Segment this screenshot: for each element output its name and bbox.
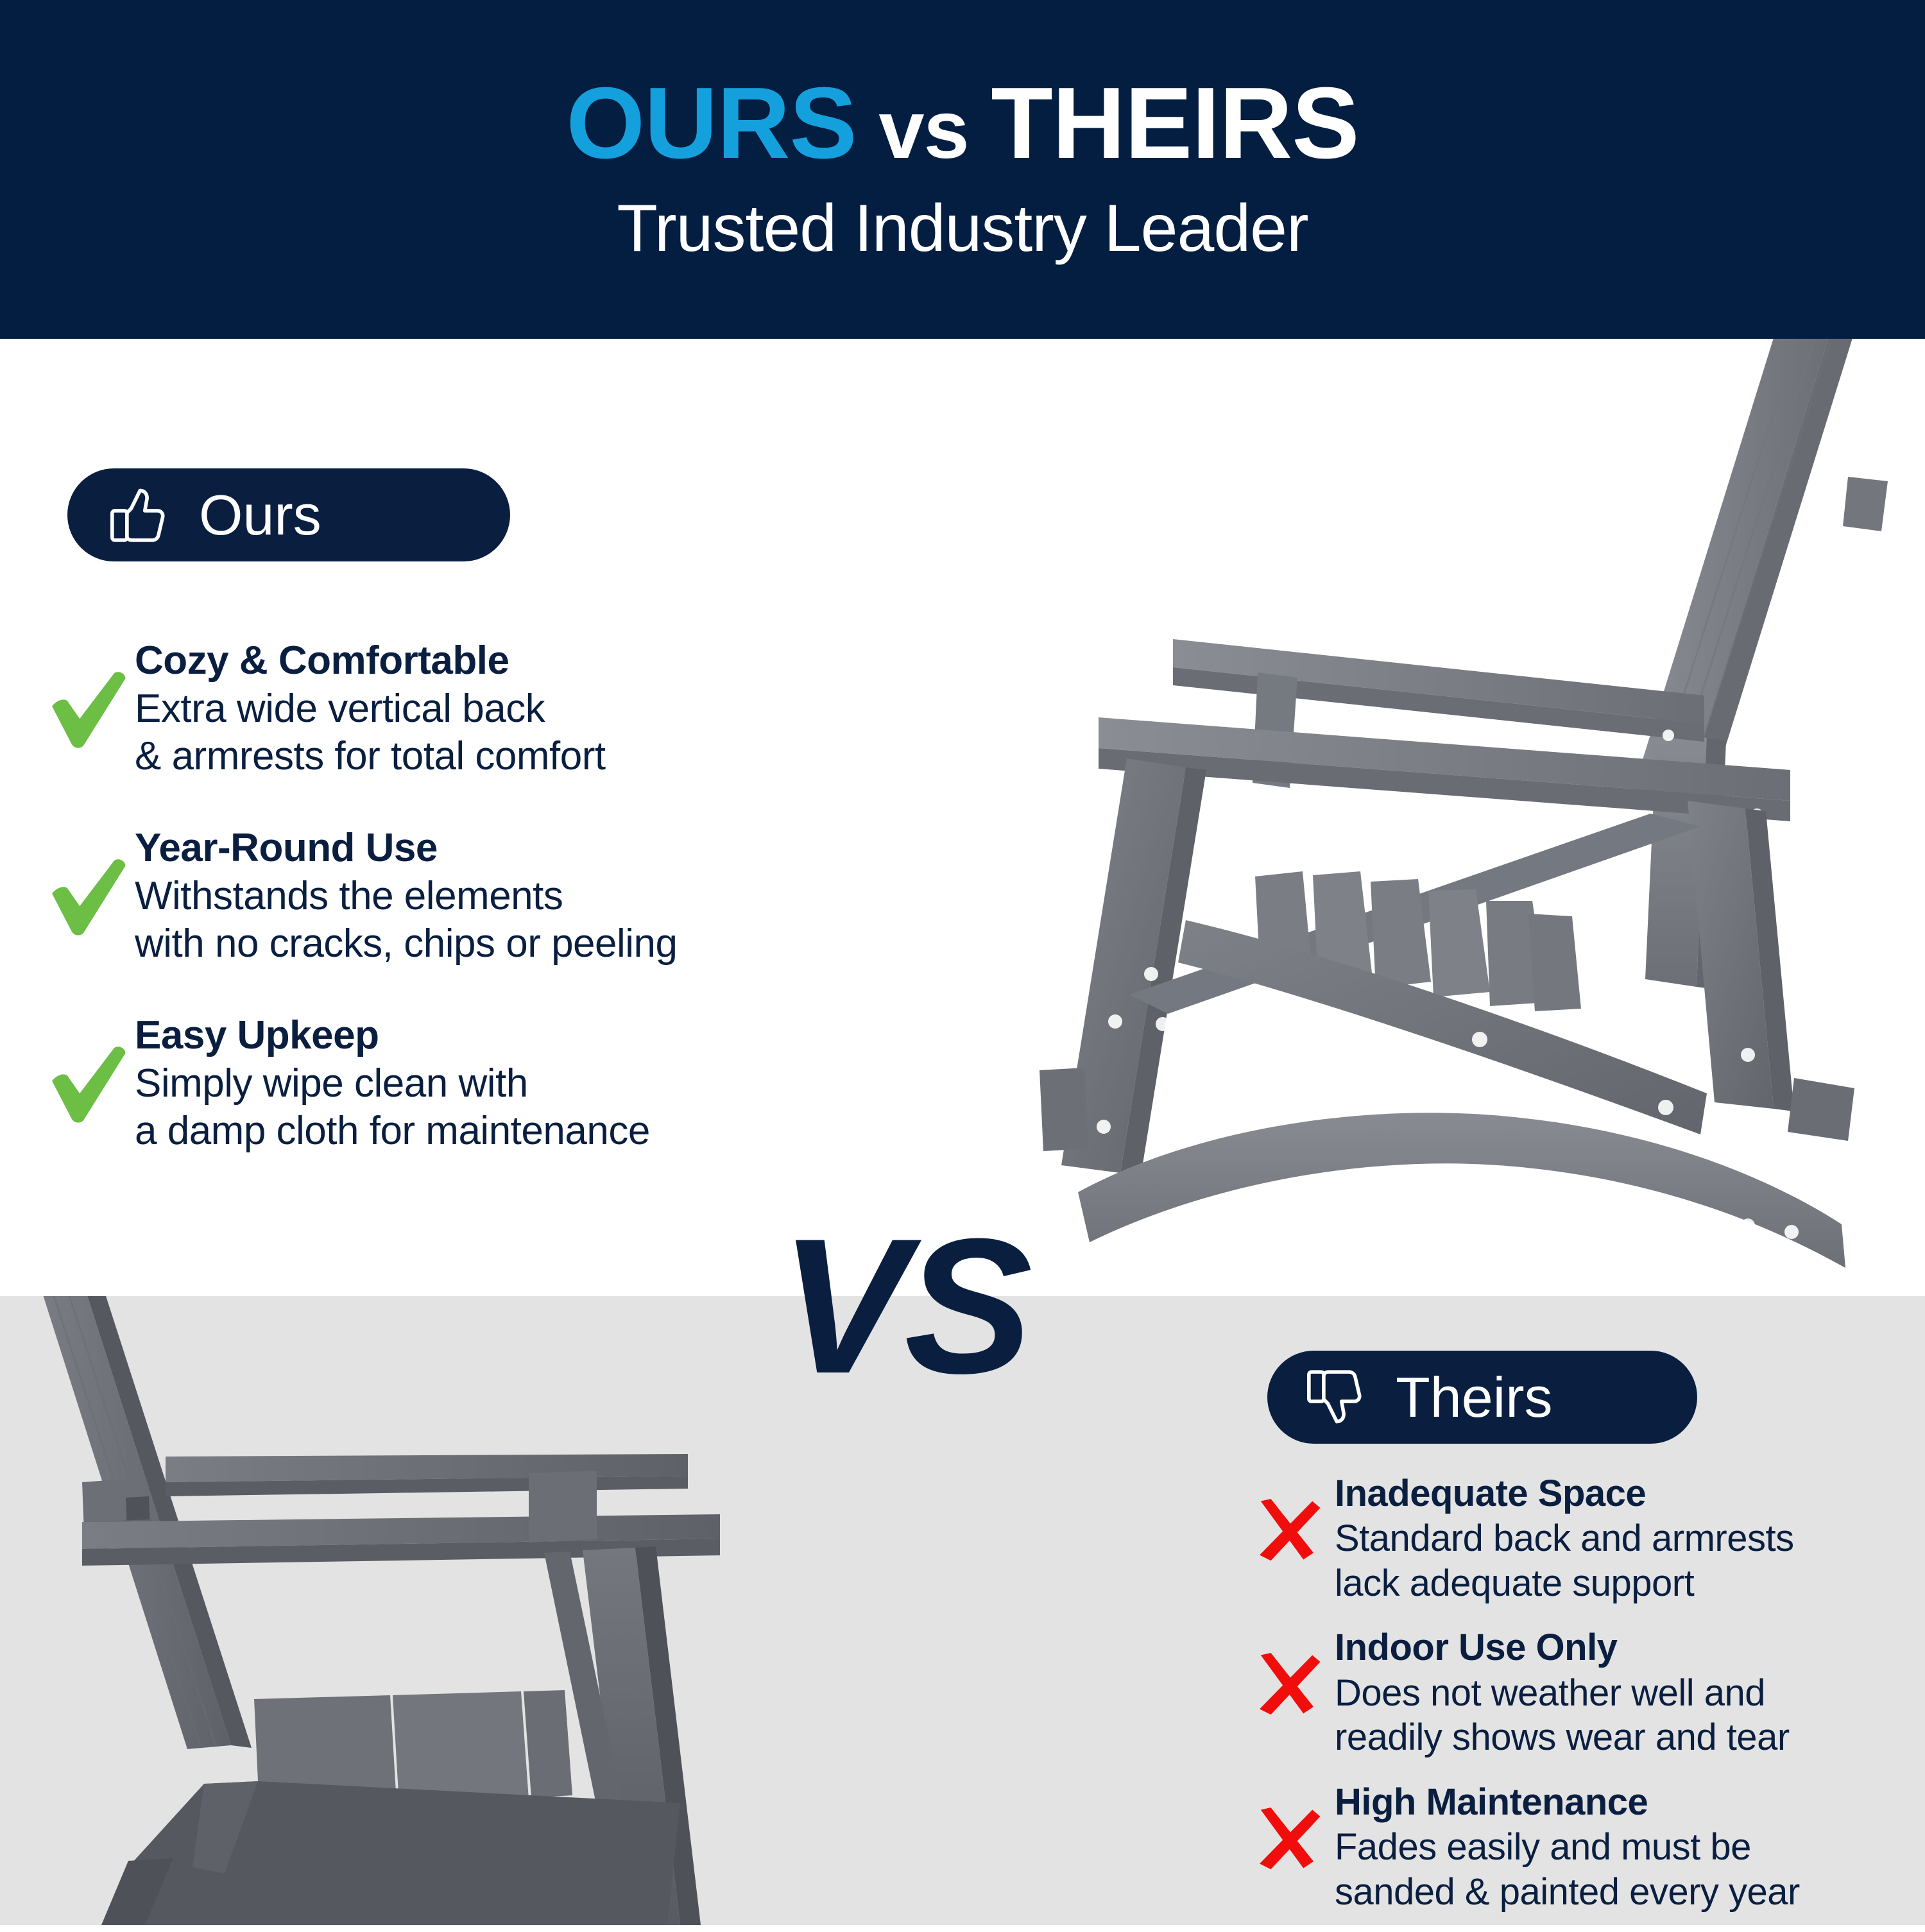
page-title: OURS vs THEIRS xyxy=(566,73,1358,174)
cross-mark-wrapper xyxy=(1238,1778,1335,1900)
check-mark-wrapper xyxy=(38,823,135,970)
check-mark-wrapper xyxy=(38,1010,135,1158)
gray-standard-adirondack-chair-illustration xyxy=(0,1296,757,1925)
feature-description: Extra wide vertical back & armrests for … xyxy=(135,685,886,781)
gray-adirondack-rocking-chair-illustration xyxy=(1001,339,1925,1296)
check-mark-wrapper xyxy=(38,635,135,783)
feature-title: Year-Round Use xyxy=(135,825,886,871)
theirs-product-photo xyxy=(0,1296,757,1925)
feature-text: Year-Round Use Withstands the elements w… xyxy=(135,823,886,968)
title-theirs-word: THEIRS xyxy=(991,67,1358,180)
list-item: Cozy & Comfortable Extra wide vertical b… xyxy=(38,635,886,783)
list-item: Easy Upkeep Simply wipe clean with a dam… xyxy=(38,1010,886,1158)
feature-text: High Maintenance Fades easily and must b… xyxy=(1335,1778,1925,1914)
green-check-icon xyxy=(42,665,131,753)
theirs-badge[interactable]: Theirs xyxy=(1267,1351,1697,1444)
feature-title: High Maintenance xyxy=(1335,1781,1925,1824)
ours-product-photo xyxy=(1001,339,1925,1296)
feature-description: Fades easily and must be sanded & painte… xyxy=(1335,1825,1925,1914)
list-item: Inadequate Space Standard back and armre… xyxy=(1238,1469,1925,1605)
title-ours-word: OURS xyxy=(566,67,857,180)
feature-title: Easy Upkeep xyxy=(135,1013,886,1059)
vs-divider-label: VS xyxy=(780,1210,1029,1402)
list-item: High Maintenance Fades easily and must b… xyxy=(1238,1778,1925,1914)
list-item: Indoor Use Only Does not weather well an… xyxy=(1238,1623,1925,1759)
red-cross-icon xyxy=(1251,1648,1322,1720)
feature-text: Easy Upkeep Simply wipe clean with a dam… xyxy=(135,1010,886,1156)
cross-mark-wrapper xyxy=(1238,1623,1335,1745)
red-cross-icon xyxy=(1251,1803,1322,1875)
thumbs-down-icon xyxy=(1303,1364,1370,1431)
feature-description: Withstands the elements with no cracks, … xyxy=(135,873,886,968)
page-subtitle: Trusted Industry Leader xyxy=(617,191,1308,267)
feature-title: Inadequate Space xyxy=(1335,1472,1925,1515)
theirs-feature-list: Inadequate Space Standard back and armre… xyxy=(1238,1469,1925,1932)
red-cross-icon xyxy=(1251,1494,1322,1566)
ours-badge-label: Ours xyxy=(199,483,321,548)
thumbs-up-icon xyxy=(106,481,173,549)
feature-text: Inadequate Space Standard back and armre… xyxy=(1335,1469,1925,1605)
green-check-icon xyxy=(42,852,131,941)
feature-title: Cozy & Comfortable xyxy=(135,638,886,684)
feature-description: Does not weather well and readily shows … xyxy=(1335,1671,1925,1760)
title-vs-word: vs xyxy=(857,84,991,176)
feature-description: Simply wipe clean with a damp cloth for … xyxy=(135,1060,886,1156)
feature-text: Cozy & Comfortable Extra wide vertical b… xyxy=(135,635,886,781)
ours-feature-list: Cozy & Comfortable Extra wide vertical b… xyxy=(38,635,886,1197)
ours-badge[interactable]: Ours xyxy=(67,468,510,561)
feature-description: Standard back and armrests lack adequate… xyxy=(1335,1516,1925,1605)
list-item: Year-Round Use Withstands the elements w… xyxy=(38,823,886,970)
green-check-icon xyxy=(42,1039,131,1128)
feature-title: Indoor Use Only xyxy=(1335,1626,1925,1669)
theirs-badge-label: Theirs xyxy=(1396,1365,1553,1430)
feature-text: Indoor Use Only Does not weather well an… xyxy=(1335,1623,1925,1759)
header-banner: OURS vs THEIRS Trusted Industry Leader xyxy=(0,0,1925,339)
cross-mark-wrapper xyxy=(1238,1469,1335,1591)
